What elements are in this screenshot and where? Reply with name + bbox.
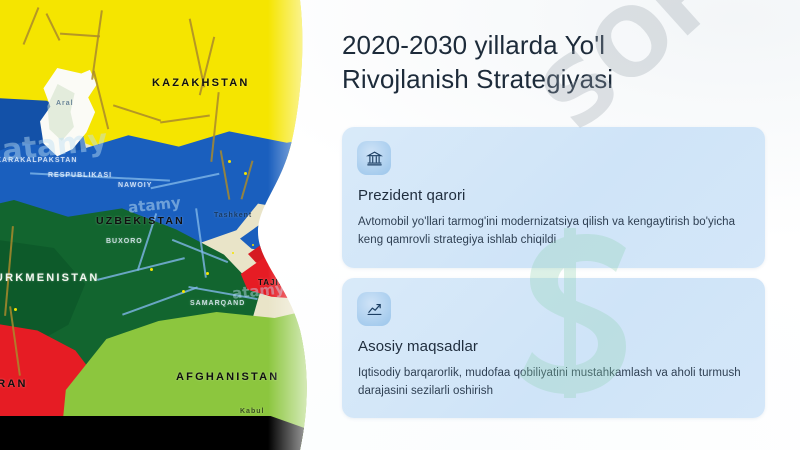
map-label-buxoro: BUXORO	[106, 238, 143, 245]
map-label-kazakhstan: KAZAKHSTAN	[152, 77, 250, 89]
map-city-dot	[206, 272, 209, 275]
map-label-afghanistan: AFGHANISTAN	[176, 371, 279, 383]
map-label-respublikasi: RESPUBLIKASI	[48, 172, 112, 179]
info-card-heading: Prezident qarori	[358, 187, 466, 204]
map-city-dot	[244, 172, 247, 175]
info-card-heading: Asosiy maqsadlar	[358, 338, 478, 355]
info-card-asosiy-maqsadlar[interactable]: Asosiy maqsadlar Iqtisodiy barqarorlik, …	[342, 278, 765, 418]
map-city-dot	[155, 122, 158, 125]
trending-up-chart-icon	[357, 292, 391, 326]
info-card-body: Avtomobil yo'llari tarmog'ini modernizat…	[358, 213, 750, 249]
content-column: 2020-2030 yillarda Yo'l Rivojlanish Stra…	[337, 0, 800, 450]
page-title: 2020-2030 yillarda Yo'l Rivojlanish Stra…	[342, 28, 772, 97]
map-city-dot	[232, 252, 234, 254]
map-label-iran: IRAN	[0, 378, 28, 390]
map-city-dot	[182, 290, 185, 293]
map-city-dot	[252, 244, 254, 246]
map-label-tashkent: Tashkent	[214, 212, 252, 219]
page-title-line-2: Rivojlanish Strategiyasi	[342, 62, 772, 96]
bank-institution-icon	[357, 141, 391, 175]
info-card-body: Iqtisodiy barqarorlik, mudofaa qobiliyat…	[358, 364, 750, 400]
map-label-turkmenistan: TURKMENISTAN	[0, 272, 100, 284]
map-city-dot	[208, 124, 211, 127]
map-label-uzbekistan: UZBEKISTAN	[96, 215, 185, 227]
map-label-kabul: Kabul	[240, 408, 264, 415]
page-title-line-1: 2020-2030 yillarda Yo'l	[342, 28, 772, 62]
map-city-dot	[150, 268, 153, 271]
map-label-aral-sea: Aral	[56, 100, 74, 107]
map-city-dot	[60, 36, 63, 39]
map-label-nawoiy: NAWOIY	[118, 182, 152, 189]
map-city-dot	[14, 308, 17, 311]
map-city-dot	[98, 60, 101, 63]
slide-canvas: KAZAKHSTAN UZBEKISTAN TURKMENISTAN AFGHA…	[0, 0, 800, 450]
info-card-prezident-qarori[interactable]: Prezident qarori Avtomobil yo'llari tarm…	[342, 127, 765, 268]
map-city-dot	[228, 160, 231, 163]
